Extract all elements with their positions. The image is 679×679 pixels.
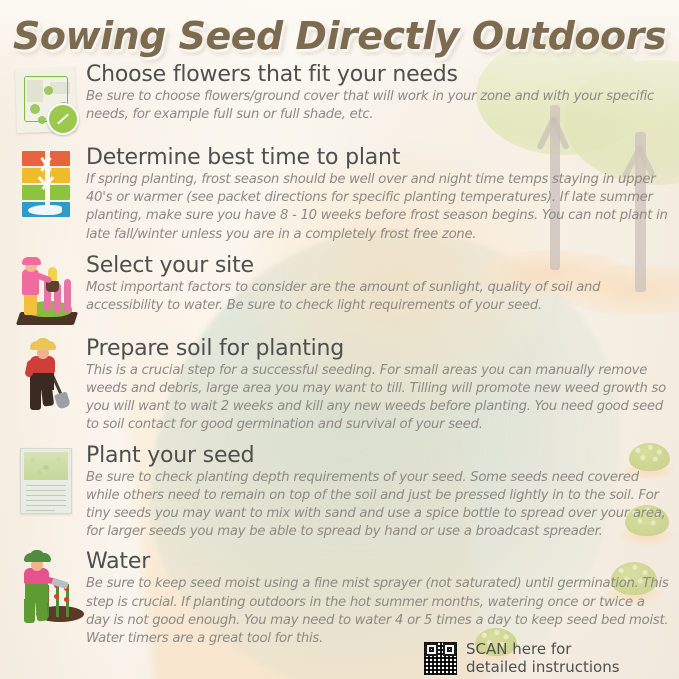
section-heading: Determine best time to plant (86, 145, 669, 170)
qr-caption-line1: SCAN here for (466, 641, 620, 659)
section-text: Determine best time to plant If spring p… (82, 145, 669, 244)
plan-shrub (38, 116, 46, 124)
garden-plan-icon (10, 64, 82, 136)
packet-photo (24, 452, 68, 480)
section-select-site: Select your site Most important factors … (0, 253, 679, 327)
person-leg (24, 599, 35, 623)
section-text: Water Be sure to keep seed moist using a… (82, 549, 669, 648)
qr-caption-line2: detailed instructions (466, 659, 620, 677)
section-heading: Water (86, 549, 669, 574)
section-choose-flowers: Choose flowers that fit your needs Be su… (0, 62, 679, 136)
compass-badge-icon (47, 103, 79, 135)
qr-caption: SCAN here for detailed instructions (466, 641, 620, 676)
section-body: Be sure to check planting depth requirem… (86, 469, 669, 542)
section-heading: Choose flowers that fit your needs (86, 62, 669, 87)
section-body: Most important factors to consider are t… (86, 279, 669, 315)
plan-shrub (30, 104, 40, 114)
seed-packet-icon (10, 445, 82, 517)
scan-qr-block[interactable]: SCAN here for detailed instructions (424, 641, 620, 676)
infographic-poster: Sowing Seed Directly Outdoors Choos (0, 0, 679, 679)
foxglove-spike (64, 279, 71, 313)
person-hat (22, 257, 41, 265)
packet-text-line (26, 510, 55, 511)
section-body: This is a crucial step for a successful … (86, 362, 669, 435)
section-text: Choose flowers that fit your needs Be su… (82, 62, 669, 124)
section-heading: Plant your seed (86, 443, 669, 468)
section-text: Select your site Most important factors … (82, 253, 669, 315)
page-title: Sowing Seed Directly Outdoors (0, 14, 679, 58)
section-text: Plant your seed Be sure to check plantin… (82, 443, 669, 542)
watering-can-icon (51, 578, 68, 590)
planting-flowers-icon (10, 255, 82, 327)
plan-shrub (44, 86, 53, 95)
section-body: If spring planting, frost season should … (86, 171, 669, 244)
packet-text-line (26, 490, 66, 491)
section-text: Prepare soil for planting This is a cruc… (82, 336, 669, 435)
section-prepare-soil: Prepare soil for planting This is a cruc… (0, 336, 679, 435)
shovel-blade (54, 391, 71, 409)
watering-gardener-icon (10, 551, 82, 623)
section-body: Be sure to keep seed moist using a fine … (86, 575, 669, 648)
section-heading: Prepare soil for planting (86, 336, 669, 361)
person-legs (24, 293, 37, 315)
section-heading: Select your site (86, 253, 669, 278)
sun-hat-crown (30, 550, 44, 556)
section-best-time: Determine best time to plant If spring p… (0, 145, 679, 244)
section-plant-seed: Plant your seed Be sure to check plantin… (0, 443, 679, 542)
packet-text-line (26, 495, 66, 496)
qr-code-icon[interactable] (424, 642, 457, 675)
sections-list: Choose flowers that fit your needs Be su… (0, 62, 679, 648)
packet-body (20, 448, 72, 514)
shoveling-gardener-icon (10, 338, 82, 410)
straw-hat-crown (36, 338, 50, 344)
packet-text-line (26, 485, 66, 486)
packet-text-line (26, 500, 66, 501)
section-body: Be sure to choose flowers/ground cover t… (86, 88, 669, 124)
packet-text-line (26, 505, 66, 506)
four-seasons-icon (10, 147, 82, 219)
winter-snow-shape (28, 205, 62, 215)
section-water: Water Be sure to keep seed moist using a… (0, 549, 679, 648)
